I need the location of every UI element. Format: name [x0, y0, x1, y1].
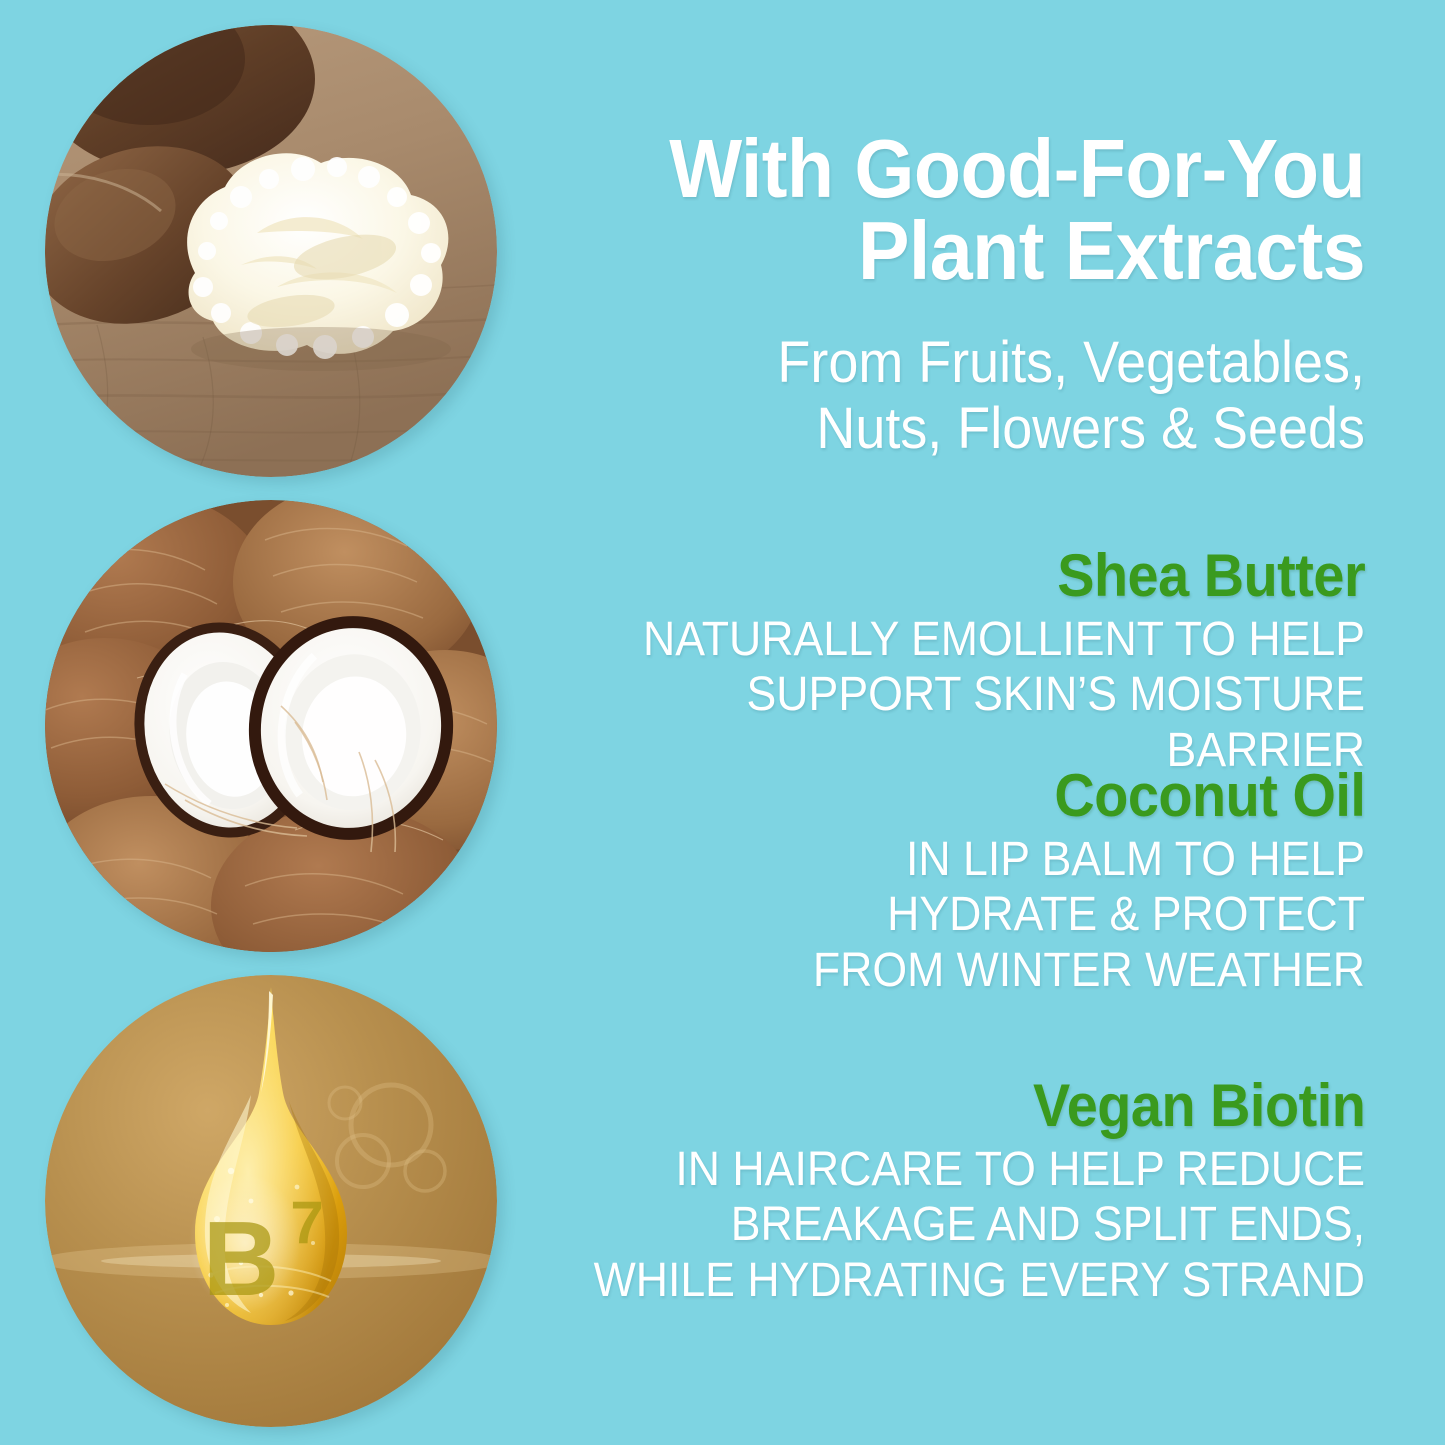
subheadline-line-2: Nuts, Flowers & Seeds [570, 396, 1365, 462]
vegan-biotin-image-circle: B 7 [45, 975, 497, 1427]
coconut-image-circle [45, 500, 497, 952]
droplet-letter-b: B [203, 1200, 280, 1318]
ingredient-block-coconut-oil: Coconut Oil IN LIP BALM TO HELP HYDRATE … [510, 765, 1365, 998]
biotin-droplet-illustration: B 7 [45, 975, 497, 1427]
subheadline: From Fruits, Vegetables, Nuts, Flowers &… [510, 330, 1365, 461]
ingredient-title-vegan-biotin: Vegan Biotin [510, 1075, 1365, 1136]
ingredient-body-line: WHILE HYDRATING EVERY STRAND [570, 1253, 1365, 1308]
ingredient-block-vegan-biotin: Vegan Biotin IN HAIRCARE TO HELP REDUCE … [510, 1075, 1365, 1308]
ingredient-body-line: FROM WINTER WEATHER [570, 943, 1365, 998]
text-column: With Good-For-You Plant Extracts From Fr… [520, 0, 1375, 1445]
droplet-superscript-7: 7 [290, 1189, 323, 1256]
ingredient-body-vegan-biotin: IN HAIRCARE TO HELP REDUCE BREAKAGE AND … [510, 1142, 1365, 1308]
coconut-illustration [45, 500, 497, 952]
ingredient-body-coconut-oil: IN LIP BALM TO HELP HYDRATE & PROTECT FR… [510, 832, 1365, 998]
ingredient-block-shea-butter: Shea Butter NATURALLY EMOLLIENT TO HELP … [510, 545, 1365, 778]
headline-line-1: With Good-For-You [570, 128, 1365, 210]
ingredient-body-line: IN HAIRCARE TO HELP REDUCE [570, 1142, 1365, 1197]
ingredient-title-coconut-oil: Coconut Oil [510, 765, 1365, 826]
headline: With Good-For-You Plant Extracts [510, 128, 1365, 292]
ingredient-body-line: NATURALLY EMOLLIENT TO HELP [570, 612, 1365, 667]
shea-butter-illustration [45, 25, 497, 477]
subheadline-line-1: From Fruits, Vegetables, [570, 330, 1365, 396]
ingredient-body-line: BREAKAGE AND SPLIT ENDS, [570, 1197, 1365, 1252]
shea-butter-image-circle [45, 25, 497, 477]
ingredient-body-line: HYDRATE & PROTECT [570, 887, 1365, 942]
ingredient-body-line: IN LIP BALM TO HELP [570, 832, 1365, 887]
headline-line-2: Plant Extracts [570, 210, 1365, 292]
ingredient-body-shea-butter: NATURALLY EMOLLIENT TO HELP SUPPORT SKIN… [510, 612, 1365, 778]
ingredient-title-shea-butter: Shea Butter [510, 545, 1365, 606]
infographic-canvas: B 7 With Good-For-You Plant Extracts Fro… [0, 0, 1445, 1445]
